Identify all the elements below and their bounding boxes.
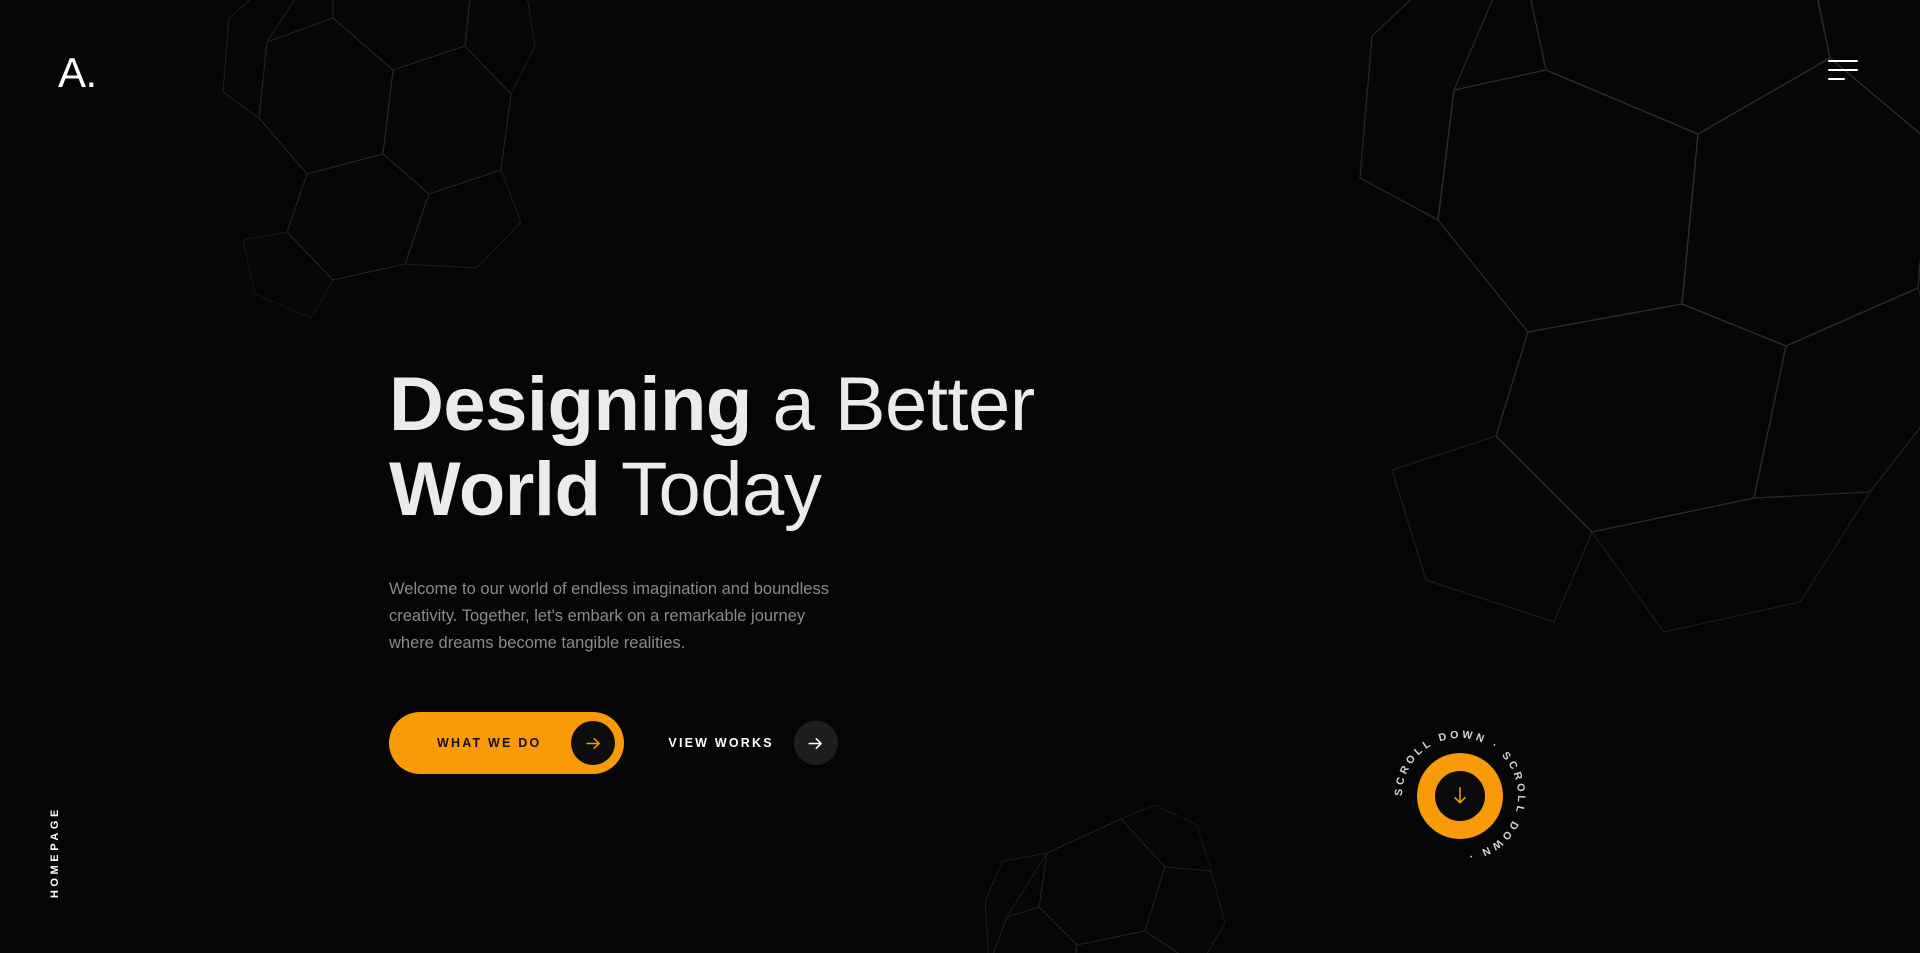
scroll-down-core [1435, 771, 1485, 821]
view-works-label: View Works [668, 736, 773, 750]
title-phrase-a-better: a Better [752, 362, 1035, 447]
hamburger-menu-icon[interactable] [1828, 57, 1862, 83]
title-word-designing: Designing [389, 362, 752, 447]
cta-button-row: What We Do View Works [389, 712, 1109, 774]
view-works-button[interactable]: View Works [650, 721, 837, 765]
hero-description: Welcome to our world of endless imaginat… [389, 576, 849, 656]
scroll-down-button[interactable]: SCROLL DOWN · SCROLL DOWN · [1389, 725, 1531, 867]
hero-content: Designing a Better World Today Welcome t… [389, 362, 1109, 774]
page-title: Designing a Better World Today [389, 362, 1109, 532]
title-line-2: World Today [389, 447, 1109, 532]
hero-page: A. HOMEPAGE Designing a Better World Tod… [0, 0, 1920, 953]
page-label-vertical: HOMEPAGE [49, 806, 61, 898]
arrow-down-icon [1450, 785, 1470, 807]
arrow-right-icon [794, 721, 838, 765]
menu-bar-2 [1828, 69, 1858, 71]
what-we-do-button[interactable]: What We Do [389, 712, 624, 774]
title-word-world: World [389, 447, 600, 532]
title-word-today: Today [600, 447, 821, 532]
site-header: A. [0, 0, 1920, 140]
arrow-right-icon [571, 721, 615, 765]
menu-bar-3 [1828, 78, 1845, 80]
wireframe-dodecahedron-bottom [985, 805, 1265, 953]
logo[interactable]: A. [58, 46, 97, 94]
what-we-do-label: What We Do [437, 736, 541, 750]
menu-bar-1 [1828, 60, 1858, 62]
title-line-1: Designing a Better [389, 362, 1109, 447]
scroll-down-ring [1417, 753, 1503, 839]
